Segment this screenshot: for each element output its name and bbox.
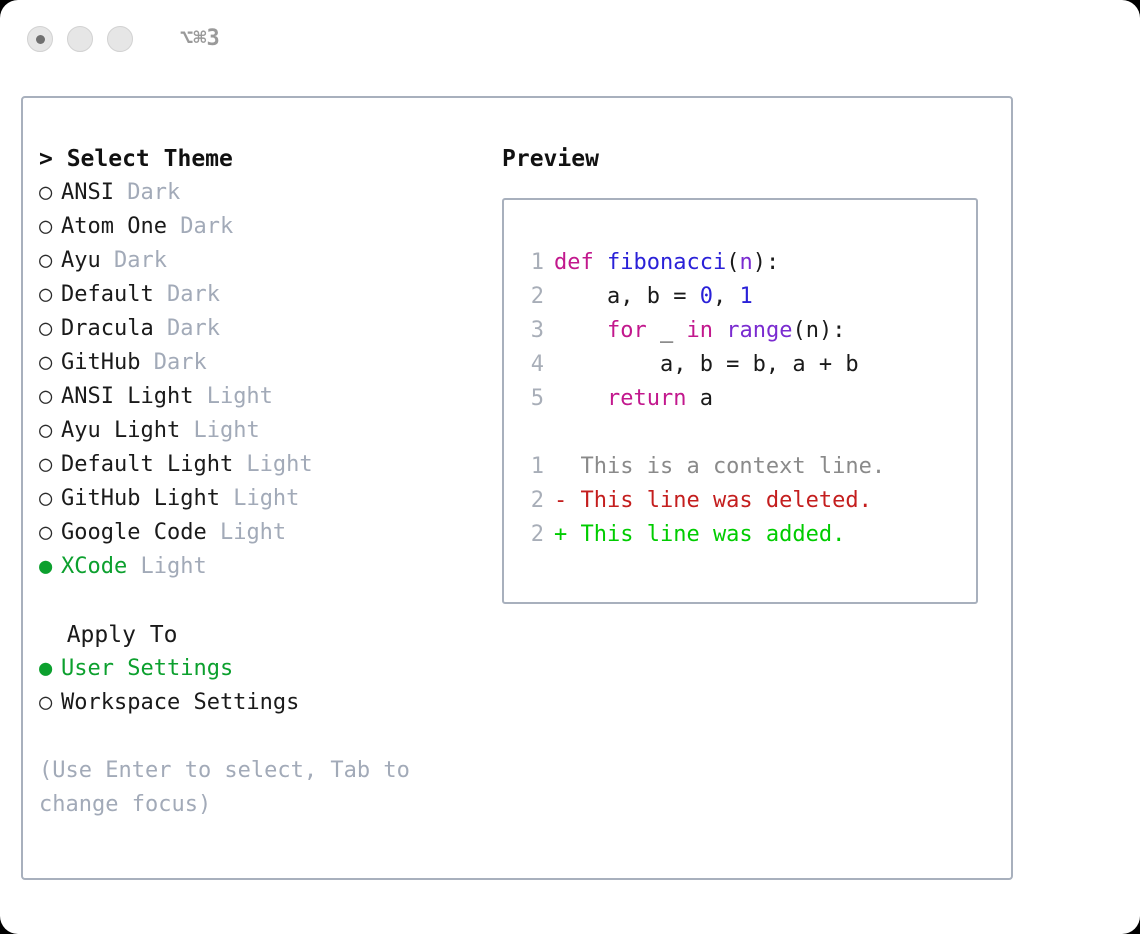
code-preview-panel: 1def fibonacci(n):2 a, b = 0, 13 for _ i… (502, 198, 978, 604)
code-token: range (726, 318, 792, 343)
radio-unselected-icon: ○ (39, 346, 61, 380)
theme-option-label: Default Light (61, 452, 233, 477)
theme-option-label: XCode (61, 554, 127, 579)
diff-line: 2- This line was deleted. (520, 484, 976, 518)
theme-option-label: Google Code (61, 520, 207, 545)
theme-option-10[interactable]: ○Google Code Light (39, 516, 489, 550)
apply-to-heading: Apply To (39, 618, 489, 652)
code-token: 1 (739, 284, 752, 309)
code-token: This is a context line. (554, 454, 885, 479)
line-number: 3 (520, 314, 544, 348)
code-sample-block: 1def fibonacci(n):2 a, b = 0, 13 for _ i… (520, 246, 976, 416)
theme-option-label: Dracula (61, 316, 154, 341)
line-number: 1 (520, 450, 544, 484)
line-number: 2 (520, 484, 544, 518)
theme-kind-badge: Dark (101, 248, 167, 273)
theme-option-4[interactable]: ○Dracula Dark (39, 312, 489, 346)
code-token (713, 318, 726, 343)
radio-selected-icon: ● (39, 550, 61, 584)
main-panel: > Select Theme ○ANSI Dark○Atom One Dark○… (21, 96, 1013, 880)
theme-option-3[interactable]: ○Default Dark (39, 278, 489, 312)
line-number: 4 (520, 348, 544, 382)
theme-option-label: Ayu Light (61, 418, 180, 443)
window-dot-3[interactable] (107, 26, 133, 52)
theme-option-6[interactable]: ○ANSI Light Light (39, 380, 489, 414)
theme-option-9[interactable]: ○GitHub Light Light (39, 482, 489, 516)
theme-kind-badge: Light (220, 486, 299, 511)
theme-kind-badge: Light (127, 554, 206, 579)
title-bar: ⌥⌘3 (0, 0, 1140, 78)
diff-line: 2+ This line was added. (520, 518, 976, 552)
code-token: ( (792, 318, 805, 343)
keyboard-hint-text: (Use Enter to select, Tab to change focu… (39, 754, 449, 822)
apply-option-label: User Settings (61, 656, 233, 681)
code-token: _ (647, 318, 687, 343)
line-number: 5 (520, 382, 544, 416)
code-line: 4 a, b = b, a + b (520, 348, 976, 382)
code-token: fibonacci (607, 250, 726, 275)
diff-sample-block: 1 This is a context line.2- This line wa… (520, 450, 976, 552)
select-theme-heading: > Select Theme (39, 142, 489, 176)
theme-option-0[interactable]: ○ANSI Dark (39, 176, 489, 210)
code-line: 3 for _ in range(n): (520, 314, 976, 348)
code-token: n (806, 318, 819, 343)
radio-unselected-icon: ○ (39, 312, 61, 346)
theme-option-label: GitHub (61, 350, 140, 375)
theme-kind-badge: Dark (114, 180, 180, 205)
radio-unselected-icon: ○ (39, 210, 61, 244)
code-token: for (607, 318, 647, 343)
code-token: n (739, 250, 752, 275)
code-token: return (607, 386, 686, 411)
apply-option-1[interactable]: ○Workspace Settings (39, 686, 489, 720)
theme-kind-badge: Light (207, 520, 286, 545)
radio-unselected-icon: ○ (39, 686, 61, 720)
code-token: a, b = b, a + b (554, 352, 859, 377)
apply-option-0[interactable]: ●User Settings (39, 652, 489, 686)
window-dot-1-indicator (36, 35, 45, 44)
window-dot-2[interactable] (67, 26, 93, 52)
radio-unselected-icon: ○ (39, 278, 61, 312)
preview-column: Preview 1def fibonacci(n):2 a, b = 0, 13… (502, 142, 992, 604)
code-token: ): (819, 318, 846, 343)
radio-unselected-icon: ○ (39, 516, 61, 550)
radio-unselected-icon: ○ (39, 176, 61, 210)
code-line: 2 a, b = 0, 1 (520, 280, 976, 314)
theme-option-label: ANSI Light (61, 384, 193, 409)
code-token: ): (753, 250, 780, 275)
radio-unselected-icon: ○ (39, 414, 61, 448)
theme-kind-badge: Dark (167, 214, 233, 239)
line-number: 2 (520, 280, 544, 314)
apply-option-label: Workspace Settings (61, 690, 299, 715)
theme-option-label: ANSI (61, 180, 114, 205)
theme-option-7[interactable]: ○Ayu Light Light (39, 414, 489, 448)
theme-kind-badge: Light (233, 452, 312, 477)
code-token (554, 386, 607, 411)
radio-unselected-icon: ○ (39, 448, 61, 482)
code-line: 1def fibonacci(n): (520, 246, 976, 280)
code-token: 0 (700, 284, 713, 309)
code-token (594, 250, 607, 275)
theme-option-label: GitHub Light (61, 486, 220, 511)
theme-option-8[interactable]: ○Default Light Light (39, 448, 489, 482)
code-token: , (713, 284, 740, 309)
line-number: 2 (520, 518, 544, 552)
preview-heading: Preview (502, 142, 992, 176)
theme-option-1[interactable]: ○Atom One Dark (39, 210, 489, 244)
line-number: 1 (520, 246, 544, 280)
theme-option-label: Ayu (61, 248, 101, 273)
diff-line: 1 This is a context line. (520, 450, 976, 484)
code-token: a (686, 386, 713, 411)
theme-option-5[interactable]: ○GitHub Dark (39, 346, 489, 380)
theme-kind-badge: Dark (154, 316, 220, 341)
theme-kind-badge: Light (180, 418, 259, 443)
code-token (554, 318, 607, 343)
theme-option-label: Atom One (61, 214, 167, 239)
code-line: 5 return a (520, 382, 976, 416)
code-token: + This line was added. (554, 522, 845, 547)
code-token: ( (726, 250, 739, 275)
radio-selected-icon: ● (39, 652, 61, 686)
keyboard-shortcut-label: ⌥⌘3 (180, 28, 220, 50)
theme-kind-badge: Dark (140, 350, 206, 375)
apply-to-block: Apply To ●User Settings○Workspace Settin… (39, 618, 489, 720)
theme-selection-column: > Select Theme ○ANSI Dark○Atom One Dark○… (39, 142, 489, 822)
code-token: a, b = (554, 284, 700, 309)
theme-kind-badge: Light (193, 384, 272, 409)
theme-option-11[interactable]: ●XCode Light (39, 550, 489, 584)
radio-unselected-icon: ○ (39, 482, 61, 516)
apply-to-list: ●User Settings○Workspace Settings (39, 652, 489, 720)
theme-list: ○ANSI Dark○Atom One Dark○Ayu Dark○Defaul… (39, 176, 489, 584)
code-token: - This line was deleted. (554, 488, 872, 513)
code-token: def (554, 250, 594, 275)
theme-kind-badge: Dark (154, 282, 220, 307)
theme-option-label: Default (61, 282, 154, 307)
app-window: ⌥⌘3 > Select Theme ○ANSI Dark○Atom One D… (0, 0, 1140, 934)
code-diff-spacer (520, 416, 976, 450)
radio-unselected-icon: ○ (39, 380, 61, 414)
window-dot-1[interactable] (27, 26, 53, 52)
radio-unselected-icon: ○ (39, 244, 61, 278)
code-token: in (686, 318, 713, 343)
theme-option-2[interactable]: ○Ayu Dark (39, 244, 489, 278)
